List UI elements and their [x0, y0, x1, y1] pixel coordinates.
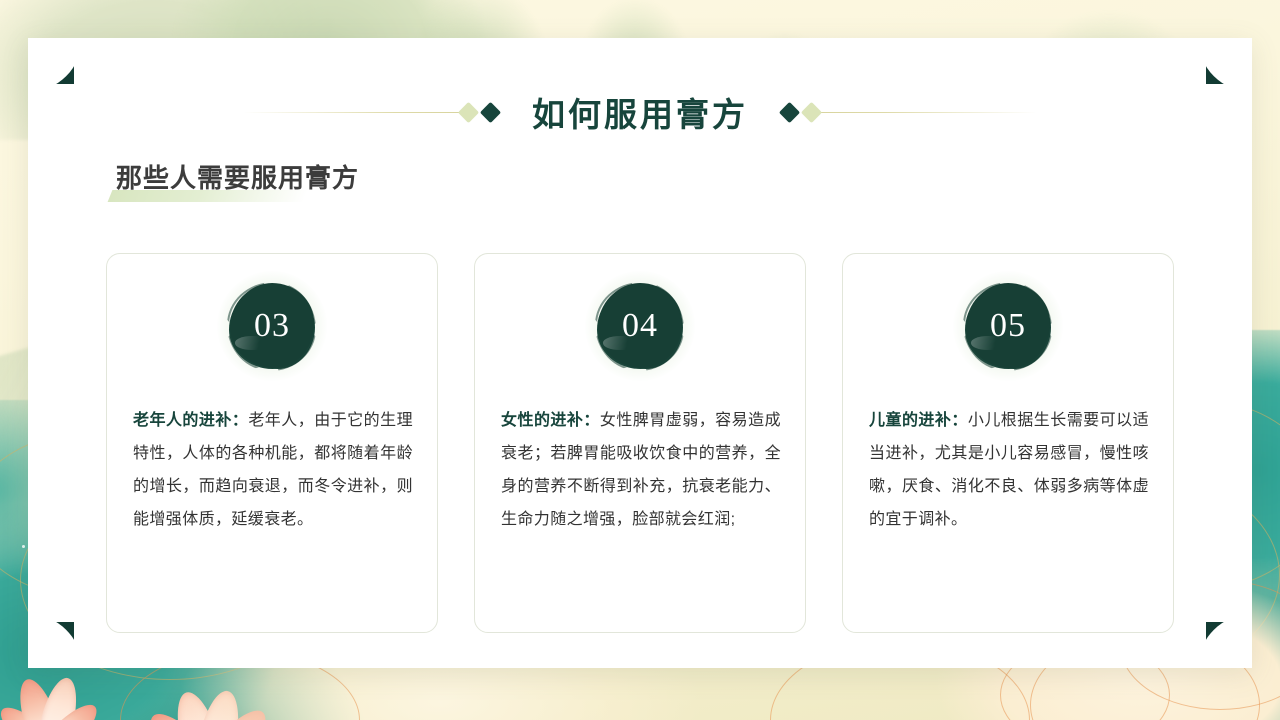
decoration-line-left [243, 112, 461, 113]
info-card[interactable]: 03 老年人的进补：老年人，由于它的生理特性，人体的各种机能，都将随着年龄的增长… [106, 253, 438, 633]
section-subtitle-wrap: 那些人需要服用膏方 [116, 158, 359, 195]
decoration-line-right [819, 112, 1037, 113]
number-badge: 05 [966, 284, 1050, 368]
diamond-dark-icon [779, 101, 800, 122]
diamond-light-icon [801, 101, 822, 122]
diamond-light-icon [458, 101, 479, 122]
section-subtitle: 那些人需要服用膏方 [116, 158, 359, 195]
number-badge: 03 [230, 284, 314, 368]
page-title: 如何服用膏方 [498, 88, 782, 136]
badge-number: 04 [622, 307, 658, 345]
title-decoration-left [243, 105, 498, 120]
badge-wrap: 03 [107, 284, 437, 368]
card-body: 儿童的进补：小儿根据生长需要可以适当进补，尤其是小儿容易感冒，慢性咳嗽，厌食、消… [869, 404, 1149, 536]
lotus-flower [0, 690, 110, 720]
card-label: 儿童的进补： [869, 412, 968, 429]
card-body: 女性的进补：女性脾胃虚弱，容易造成衰老；若脾胃能吸收饮食中的营养，全身的营养不断… [501, 404, 781, 536]
card-body: 老年人的进补：老年人，由于它的生理特性，人体的各种机能，都将随着年龄的增长，而趋… [133, 404, 413, 536]
slide-title-row: 如何服用膏方 [28, 84, 1252, 140]
card-label: 老年人的进补： [133, 412, 248, 429]
badge-wrap: 05 [843, 284, 1173, 368]
card-list: 03 老年人的进补：老年人，由于它的生理特性，人体的各种机能，都将随着年龄的增长… [106, 253, 1174, 633]
info-card[interactable]: 04 女性的进补：女性脾胃虚弱，容易造成衰老；若脾胃能吸收饮食中的营养，全身的营… [474, 253, 806, 633]
sparkle-dot [22, 545, 25, 548]
badge-number: 05 [990, 307, 1026, 345]
card-text: 女性脾胃虚弱，容易造成衰老；若脾胃能吸收饮食中的营养，全身的营养不断得到补充，抗… [501, 412, 781, 528]
number-badge: 04 [598, 284, 682, 368]
title-decoration-right [782, 105, 1037, 120]
card-label: 女性的进补： [501, 412, 600, 429]
badge-number: 03 [254, 307, 290, 345]
card-text: 小儿根据生长需要可以适当进补，尤其是小儿容易感冒，慢性咳嗽，厌食、消化不良、体弱… [869, 412, 1149, 528]
card-text: 老年人，由于它的生理特性，人体的各种机能，都将随着年龄的增长，而趋向衰退，而冬令… [133, 412, 413, 528]
info-card[interactable]: 05 儿童的进补：小儿根据生长需要可以适当进补，尤其是小儿容易感冒，慢性咳嗽，厌… [842, 253, 1174, 633]
badge-wrap: 04 [475, 284, 805, 368]
